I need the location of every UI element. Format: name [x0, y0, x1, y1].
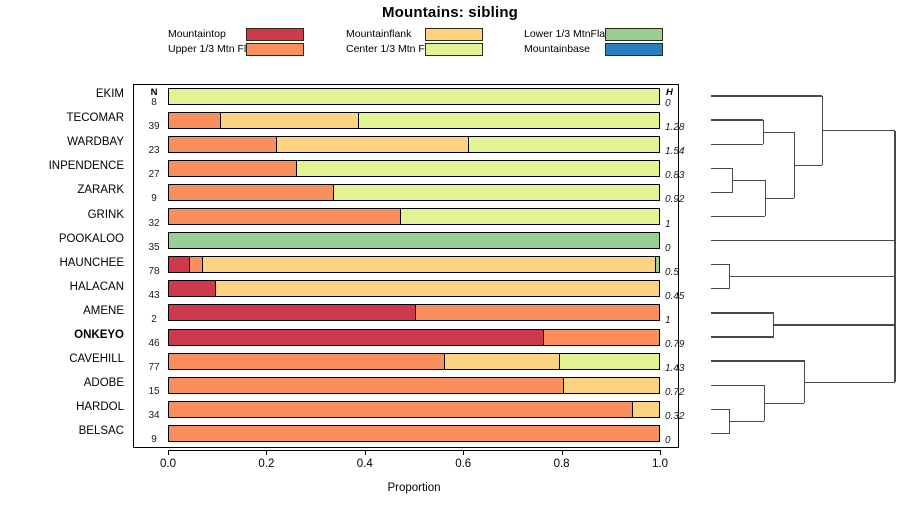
bar-segment[interactable] [169, 185, 333, 200]
dendrogram-branch [733, 180, 766, 181]
bar-segment[interactable] [276, 137, 468, 152]
legend-item[interactable]: Center 1/3 Mtn Flank [346, 42, 522, 57]
dendrogram-branch [711, 216, 765, 217]
bar-segment[interactable] [220, 113, 359, 128]
n-value: 77 [141, 362, 167, 373]
bar-segment[interactable] [169, 89, 660, 104]
category-label-adobe: ADOBE [0, 377, 124, 389]
legend-swatch [425, 43, 483, 56]
category-label-hardol: HARDOL [0, 401, 124, 413]
n-value: 27 [141, 169, 167, 180]
legend-column: MountainflankCenter 1/3 Mtn Flank [346, 27, 522, 57]
n-value: 35 [141, 242, 167, 253]
x-axis-tick-label: 1.0 [640, 458, 680, 470]
dendrogram-branch [711, 385, 764, 386]
dendrogram-branch [711, 409, 730, 410]
stacked-bar[interactable] [168, 184, 660, 201]
legend-label: Mountainbase [524, 42, 590, 57]
chart-root: Mountains: sibling MountaintopUpper 1/3 … [0, 0, 900, 520]
n-value: 46 [141, 338, 167, 349]
bar-segment[interactable] [415, 305, 660, 320]
n-value: 9 [141, 434, 167, 445]
bar-segment[interactable] [296, 161, 660, 176]
legend-swatch [425, 28, 483, 41]
bar-segment[interactable] [169, 257, 189, 272]
n-value: 15 [141, 386, 167, 397]
stacked-bar[interactable] [168, 256, 660, 273]
category-label-cavehill: CAVEHILL [0, 353, 124, 365]
category-label-inpendence: INPENDENCE [0, 160, 124, 172]
x-axis-line [168, 450, 660, 451]
bar-segment[interactable] [202, 257, 655, 272]
legend-column: Lower 1/3 MtnFlankMountainbase [524, 27, 700, 57]
n-value: 39 [141, 121, 167, 132]
bar-segment[interactable] [189, 257, 202, 272]
legend-item[interactable]: Mountainbase [524, 42, 700, 57]
stacked-bar[interactable] [168, 353, 660, 370]
dendrogram-branch [763, 132, 794, 133]
stacked-bar[interactable] [168, 232, 660, 249]
n-value: 8 [141, 97, 167, 108]
category-label-onkeyo: ONKEYO [0, 329, 124, 341]
legend-label: Mountaintop [168, 27, 226, 42]
bar-segment[interactable] [333, 185, 660, 200]
stacked-bar[interactable] [168, 329, 660, 346]
dendrogram-branch [711, 312, 774, 313]
legend: MountaintopUpper 1/3 Mtn FlankMountainfl… [168, 27, 708, 57]
legend-label: Lower 1/3 MtnFlank [524, 27, 616, 42]
n-value: 78 [141, 266, 167, 277]
x-axis-tick-label: 0.0 [148, 458, 188, 470]
dendrogram [690, 84, 900, 448]
dendrogram-branch [730, 421, 765, 422]
dendrogram-branch [894, 131, 896, 383]
bar-segment[interactable] [169, 233, 660, 248]
n-value: 2 [141, 314, 167, 325]
bar-segment[interactable] [444, 354, 559, 369]
legend-label: Mountainflank [346, 27, 411, 42]
stacked-bar[interactable] [168, 377, 660, 394]
bar-segment[interactable] [468, 137, 660, 152]
x-axis-title: Proportion [314, 482, 514, 494]
dendrogram-branch [730, 276, 895, 277]
legend-swatch [246, 43, 304, 56]
bar-segment[interactable] [563, 378, 660, 393]
x-axis-tick [365, 450, 366, 455]
bar-segment[interactable] [169, 378, 563, 393]
legend-swatch [605, 43, 663, 56]
stacked-bar[interactable] [168, 304, 660, 321]
dendrogram-branch [711, 119, 763, 120]
dendrogram-branch [711, 336, 774, 337]
x-axis-tick-label: 0.8 [542, 458, 582, 470]
x-axis-tick-label: 0.4 [345, 458, 385, 470]
category-label-ekim: EKIM [0, 88, 124, 100]
bar-segment[interactable] [559, 354, 660, 369]
dendrogram-branch [711, 144, 763, 145]
x-axis-tick-label: 0.2 [246, 458, 286, 470]
bar-segment[interactable] [655, 257, 660, 272]
stacked-bar[interactable] [168, 425, 660, 442]
x-axis-tick-label: 0.6 [443, 458, 483, 470]
bar-segment[interactable] [169, 402, 632, 417]
bar-segment[interactable] [169, 354, 444, 369]
legend-swatch [605, 28, 663, 41]
legend-item[interactable]: Mountainflank [346, 27, 522, 42]
x-axis-tick [463, 450, 464, 455]
legend-column: MountaintopUpper 1/3 Mtn Flank [168, 27, 344, 57]
dendrogram-branch [711, 288, 730, 289]
bar-segment[interactable] [358, 113, 660, 128]
dendrogram-branch [711, 168, 733, 169]
category-label-wardbay: WARDBAY [0, 136, 124, 148]
stacked-bar[interactable] [168, 136, 660, 153]
category-label-zarark: ZARARK [0, 184, 124, 196]
dendrogram-branch [711, 192, 733, 193]
category-label-tecomar: TECOMAR [0, 112, 124, 124]
stacked-bar[interactable] [168, 401, 660, 418]
dendrogram-branch [711, 264, 730, 265]
dendrogram-branch [711, 360, 805, 361]
category-label-grink: GRINK [0, 209, 124, 221]
bar-segment[interactable] [169, 113, 220, 128]
bar-segment[interactable] [169, 161, 296, 176]
stacked-bar[interactable] [168, 208, 660, 225]
bar-segment[interactable] [169, 330, 543, 345]
bar-segment[interactable] [169, 426, 660, 441]
legend-item[interactable]: Upper 1/3 Mtn Flank [168, 42, 344, 57]
stacked-bar[interactable] [168, 88, 660, 105]
bar-segment[interactable] [169, 209, 400, 224]
n-value: 43 [141, 290, 167, 301]
bar-segment[interactable] [400, 209, 660, 224]
legend-swatch [246, 28, 304, 41]
category-label-amene: AMENE [0, 305, 124, 317]
dendrogram-branch [764, 403, 804, 404]
category-label-halacan: HALACAN [0, 281, 124, 293]
x-axis-tick [266, 450, 267, 455]
x-axis-tick [168, 450, 169, 455]
bar-segment[interactable] [215, 281, 660, 296]
category-label-belsac: BELSAC [0, 425, 124, 437]
n-value: 34 [141, 410, 167, 421]
bar-segment[interactable] [543, 330, 660, 345]
dendrogram-branch [711, 433, 730, 434]
n-value: 9 [141, 193, 167, 204]
legend-item[interactable]: Mountaintop [168, 27, 344, 42]
dendrogram-branch [711, 240, 895, 242]
dendrogram-branch [794, 165, 822, 166]
dendrogram-branch [774, 324, 896, 325]
dendrogram-branch [765, 198, 794, 199]
bar-segment[interactable] [169, 281, 215, 296]
h-column-header: H [666, 87, 673, 98]
n-value: 32 [141, 218, 167, 229]
page-title: Mountains: sibling [0, 4, 900, 21]
dendrogram-branch [711, 95, 822, 96]
dendrogram-branch [805, 382, 896, 383]
x-axis-tick [562, 450, 563, 455]
category-label-pookaloo: POOKALOO [0, 233, 124, 245]
x-axis-tick [660, 450, 661, 455]
bar-segment[interactable] [169, 137, 276, 152]
bar-segment[interactable] [632, 402, 660, 417]
stacked-bar[interactable] [168, 160, 660, 177]
stacked-bar[interactable] [168, 112, 660, 129]
category-label-haunchee: HAUNCHEE [0, 257, 124, 269]
stacked-bar[interactable] [168, 280, 660, 297]
legend-item[interactable]: Lower 1/3 MtnFlank [524, 27, 700, 42]
bar-segment[interactable] [169, 305, 415, 320]
n-value: 23 [141, 145, 167, 156]
dendrogram-branch [822, 130, 895, 131]
